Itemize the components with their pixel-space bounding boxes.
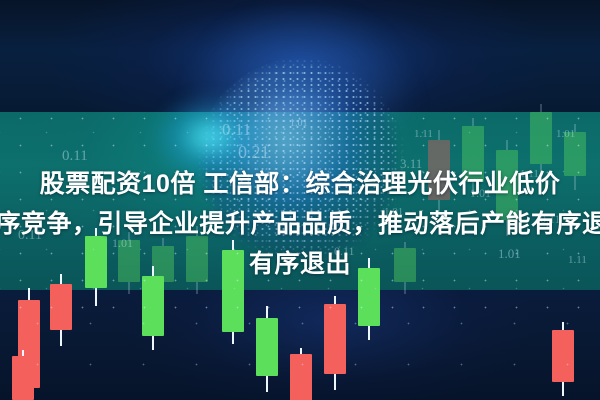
particle-dust-overlay (0, 290, 600, 400)
headline-line: 有序退出 (0, 244, 600, 284)
news-banner-image: 0.110.110.211.113.110.111.011.010.111.01… (0, 0, 600, 400)
headline-text: 股票配资10倍 工信部：综合治理光伏行业低价无序竞争，引导企业提升产品品质，推动… (0, 164, 600, 284)
headline-line: 股票配资10倍 工信部：综合治理光伏行业低价 (0, 164, 600, 204)
headline-line: 无序竞争，引导企业提升产品品质，推动落后产能有序退出 (0, 204, 600, 244)
